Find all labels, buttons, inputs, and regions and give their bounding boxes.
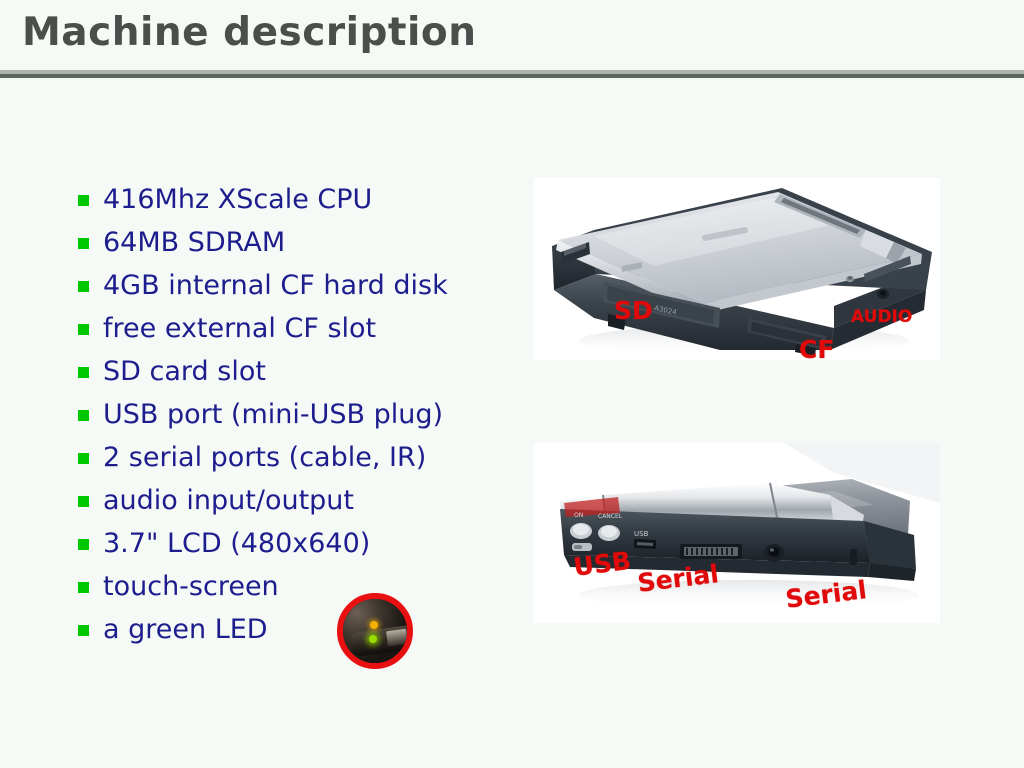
feature-bullet-list: 416Mhz XScale CPU 64MB SDRAM 4GB interna… [78,178,548,651]
handheld-pc-closed-top-view: A3024 [534,178,940,360]
list-item: free external CF slot [78,307,548,350]
list-item: 416Mhz XScale CPU [78,178,548,221]
square-bullet-icon [78,410,89,421]
svg-text:CANCEL: CANCEL [598,513,623,520]
page-title: Machine description [22,10,476,55]
square-bullet-icon [78,582,89,593]
list-item-label: 416Mhz XScale CPU [103,186,372,213]
list-item: USB port (mini-USB plug) [78,393,548,436]
list-item-label: SD card slot [103,358,266,385]
square-bullet-icon [78,281,89,292]
photo-label-cf: CF [799,335,834,364]
green-led-icon [369,635,377,643]
square-bullet-icon [78,238,89,249]
square-bullet-icon [78,367,89,378]
photo-label-sd: SD [614,296,653,325]
list-item: SD card slot [78,350,548,393]
list-item-label: free external CF slot [103,315,376,342]
list-item-label: 4GB internal CF hard disk [103,272,448,299]
square-bullet-icon [78,195,89,206]
square-bullet-icon [78,539,89,550]
svg-text:ON: ON [574,512,583,519]
list-item-label: 3.7" LCD (480x640) [103,530,370,557]
list-item: 3.7" LCD (480x640) [78,522,548,565]
list-item: audio input/output [78,479,548,522]
square-bullet-icon [78,453,89,464]
list-item-label: touch-screen [103,573,279,600]
slide-header: Machine description [0,0,1024,72]
list-item-label: a green LED [103,616,268,643]
list-item: 2 serial ports (cable, IR) [78,436,548,479]
list-item: 4GB internal CF hard disk [78,264,548,307]
list-item-label: USB port (mini-USB plug) [103,401,443,428]
handheld-pc-front-illustration: ON CANCEL USB [534,443,940,623]
green-led-closeup-photo [337,593,413,669]
title-divider [0,70,1024,78]
amber-led-icon [370,621,378,629]
handheld-pc-top-illustration: A3024 [534,178,940,360]
led-connector-chrome [386,629,408,647]
square-bullet-icon [78,625,89,636]
square-bullet-icon [78,496,89,507]
square-bullet-icon [78,324,89,335]
divider-shadow-line [0,74,1024,78]
svg-text:USB: USB [634,530,649,538]
photo-label-audio: AUDIO [851,307,912,327]
slide-canvas: Machine description 416Mhz XScale CPU 64… [0,0,1024,768]
list-item: touch-screen [78,565,548,608]
list-item-label: 64MB SDRAM [103,229,285,256]
handheld-pc-front-port-view: ON CANCEL USB [534,443,940,623]
list-item-label: audio input/output [103,487,354,514]
list-item: a green LED [78,608,548,651]
list-item-label: 2 serial ports (cable, IR) [103,444,426,471]
list-item: 64MB SDRAM [78,221,548,264]
